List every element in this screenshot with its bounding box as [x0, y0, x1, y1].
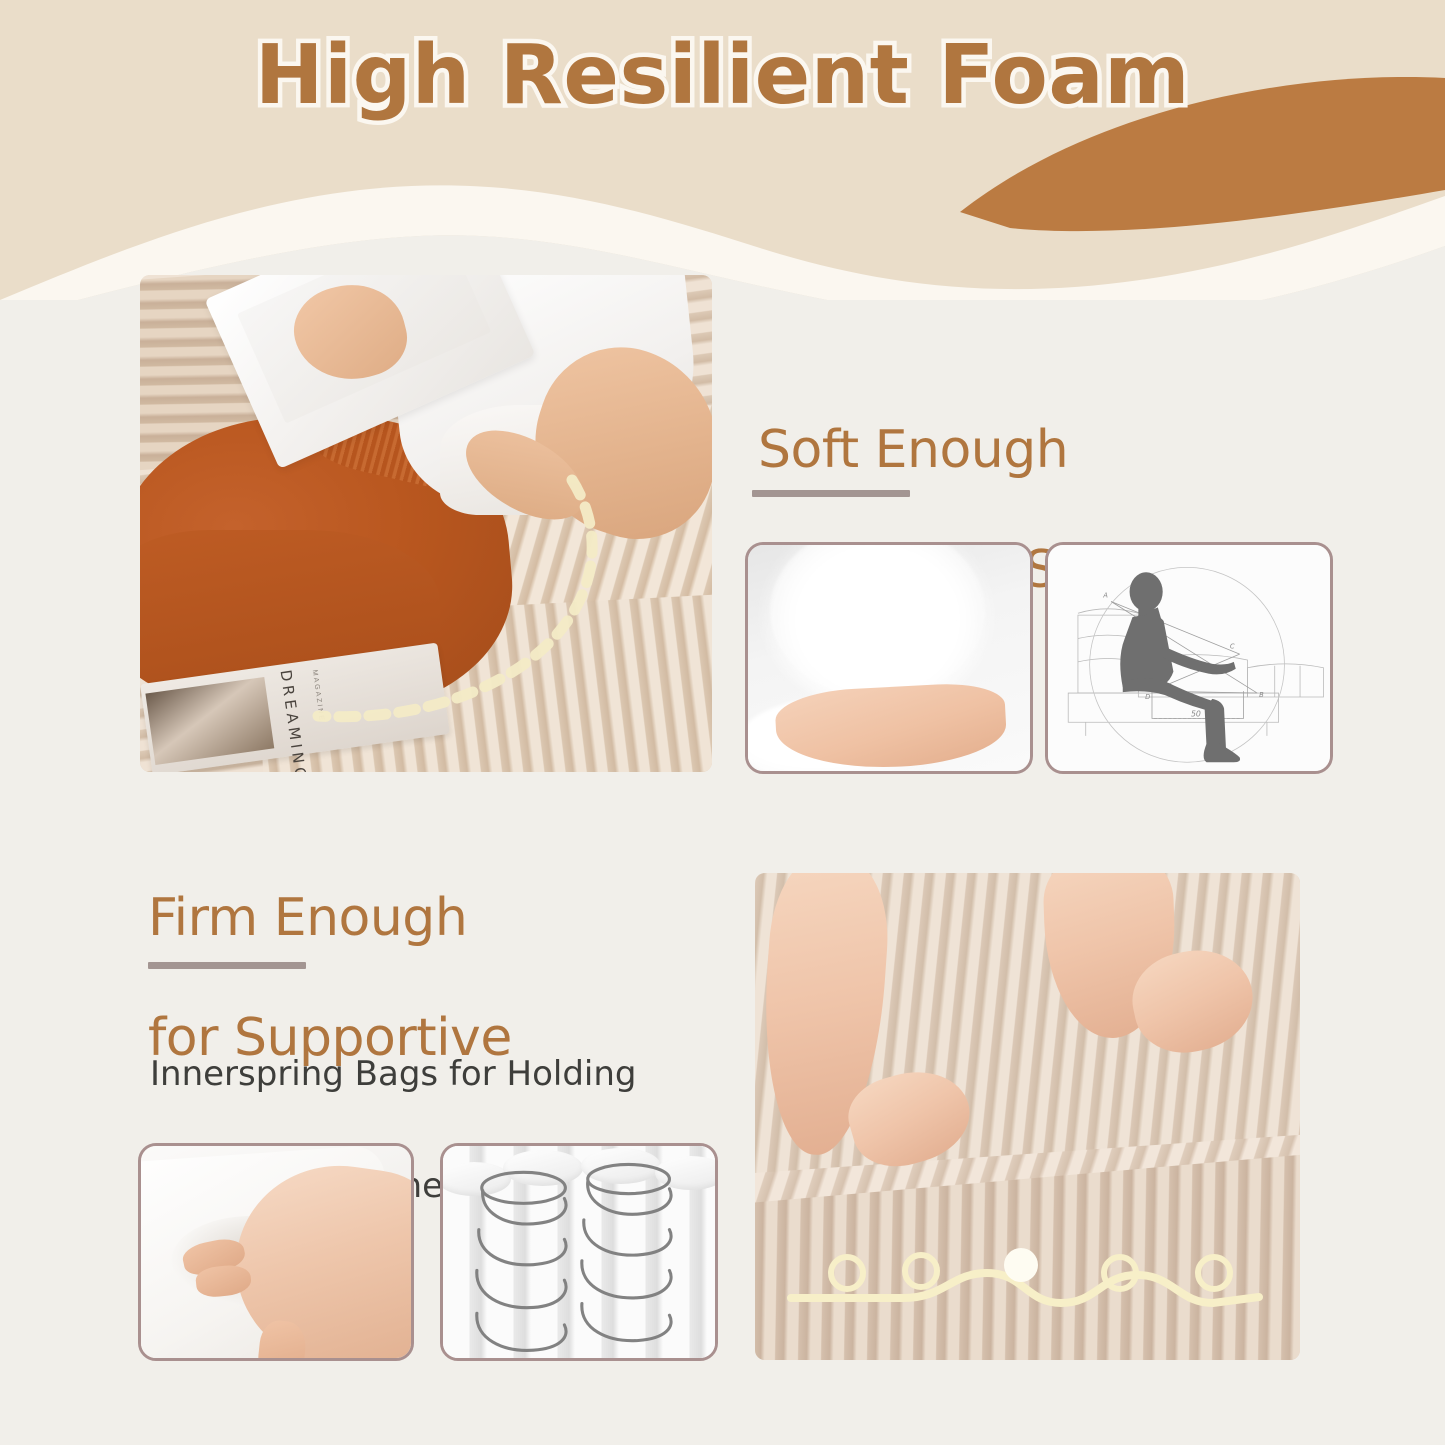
feature-soft-heading-line1: Soft Enough	[758, 420, 1318, 480]
fiber-fill-cloud	[770, 545, 985, 698]
photo-pocketed-coil-springs	[440, 1143, 718, 1361]
photo-hand-pressing-foam	[138, 1143, 414, 1361]
spring-2-top-coil	[588, 1164, 670, 1193]
ergonomic-diagram-svg: A B C D 50	[1048, 545, 1330, 771]
feature-firm-rule	[148, 962, 306, 969]
coil-springs-svg	[443, 1146, 715, 1358]
photo-person-reading-on-sofa: DREAMING MAGAZINE	[140, 275, 712, 772]
page-title: High Resilient Foam	[0, 28, 1445, 123]
svg-text:B: B	[1259, 691, 1264, 699]
spring-2-coil-3	[584, 1220, 671, 1255]
seated-person-silhouette	[1120, 572, 1240, 762]
svg-text:C: C	[1230, 642, 1235, 650]
svg-text:D: D	[1145, 693, 1150, 701]
photo-fiber-fill-in-hand	[745, 542, 1033, 774]
svg-text:A: A	[1102, 592, 1108, 600]
feature-firm-body-line1: Innerspring Bags for Holding	[150, 1046, 750, 1102]
spring-1-coil-3	[479, 1230, 566, 1265]
svg-text:50: 50	[1191, 709, 1201, 718]
spring-2-coil-2	[588, 1182, 671, 1214]
foot-silhouette	[1204, 743, 1240, 762]
photo-ergonomic-seating-diagram: A B C D 50	[1045, 542, 1333, 774]
feature-firm-heading-line1: Firm Enough	[148, 888, 748, 948]
spring-1-coil-5	[477, 1313, 566, 1350]
spring-2-coil-4	[582, 1261, 671, 1298]
magazine-cover-photo	[145, 677, 274, 765]
magazine-title-text: DREAMING	[277, 669, 311, 772]
spring-1-coil-2	[483, 1191, 566, 1224]
spring-1-coil-4	[477, 1270, 566, 1307]
photo-feet-on-cushion	[755, 873, 1300, 1360]
magazine-subtitle-text: MAGAZINE	[311, 669, 325, 722]
spring-2-coil-5	[582, 1304, 671, 1341]
feature-soft-rule	[752, 490, 910, 497]
spring-1-top-coil	[482, 1172, 566, 1203]
sofa-legs	[1086, 722, 1267, 736]
